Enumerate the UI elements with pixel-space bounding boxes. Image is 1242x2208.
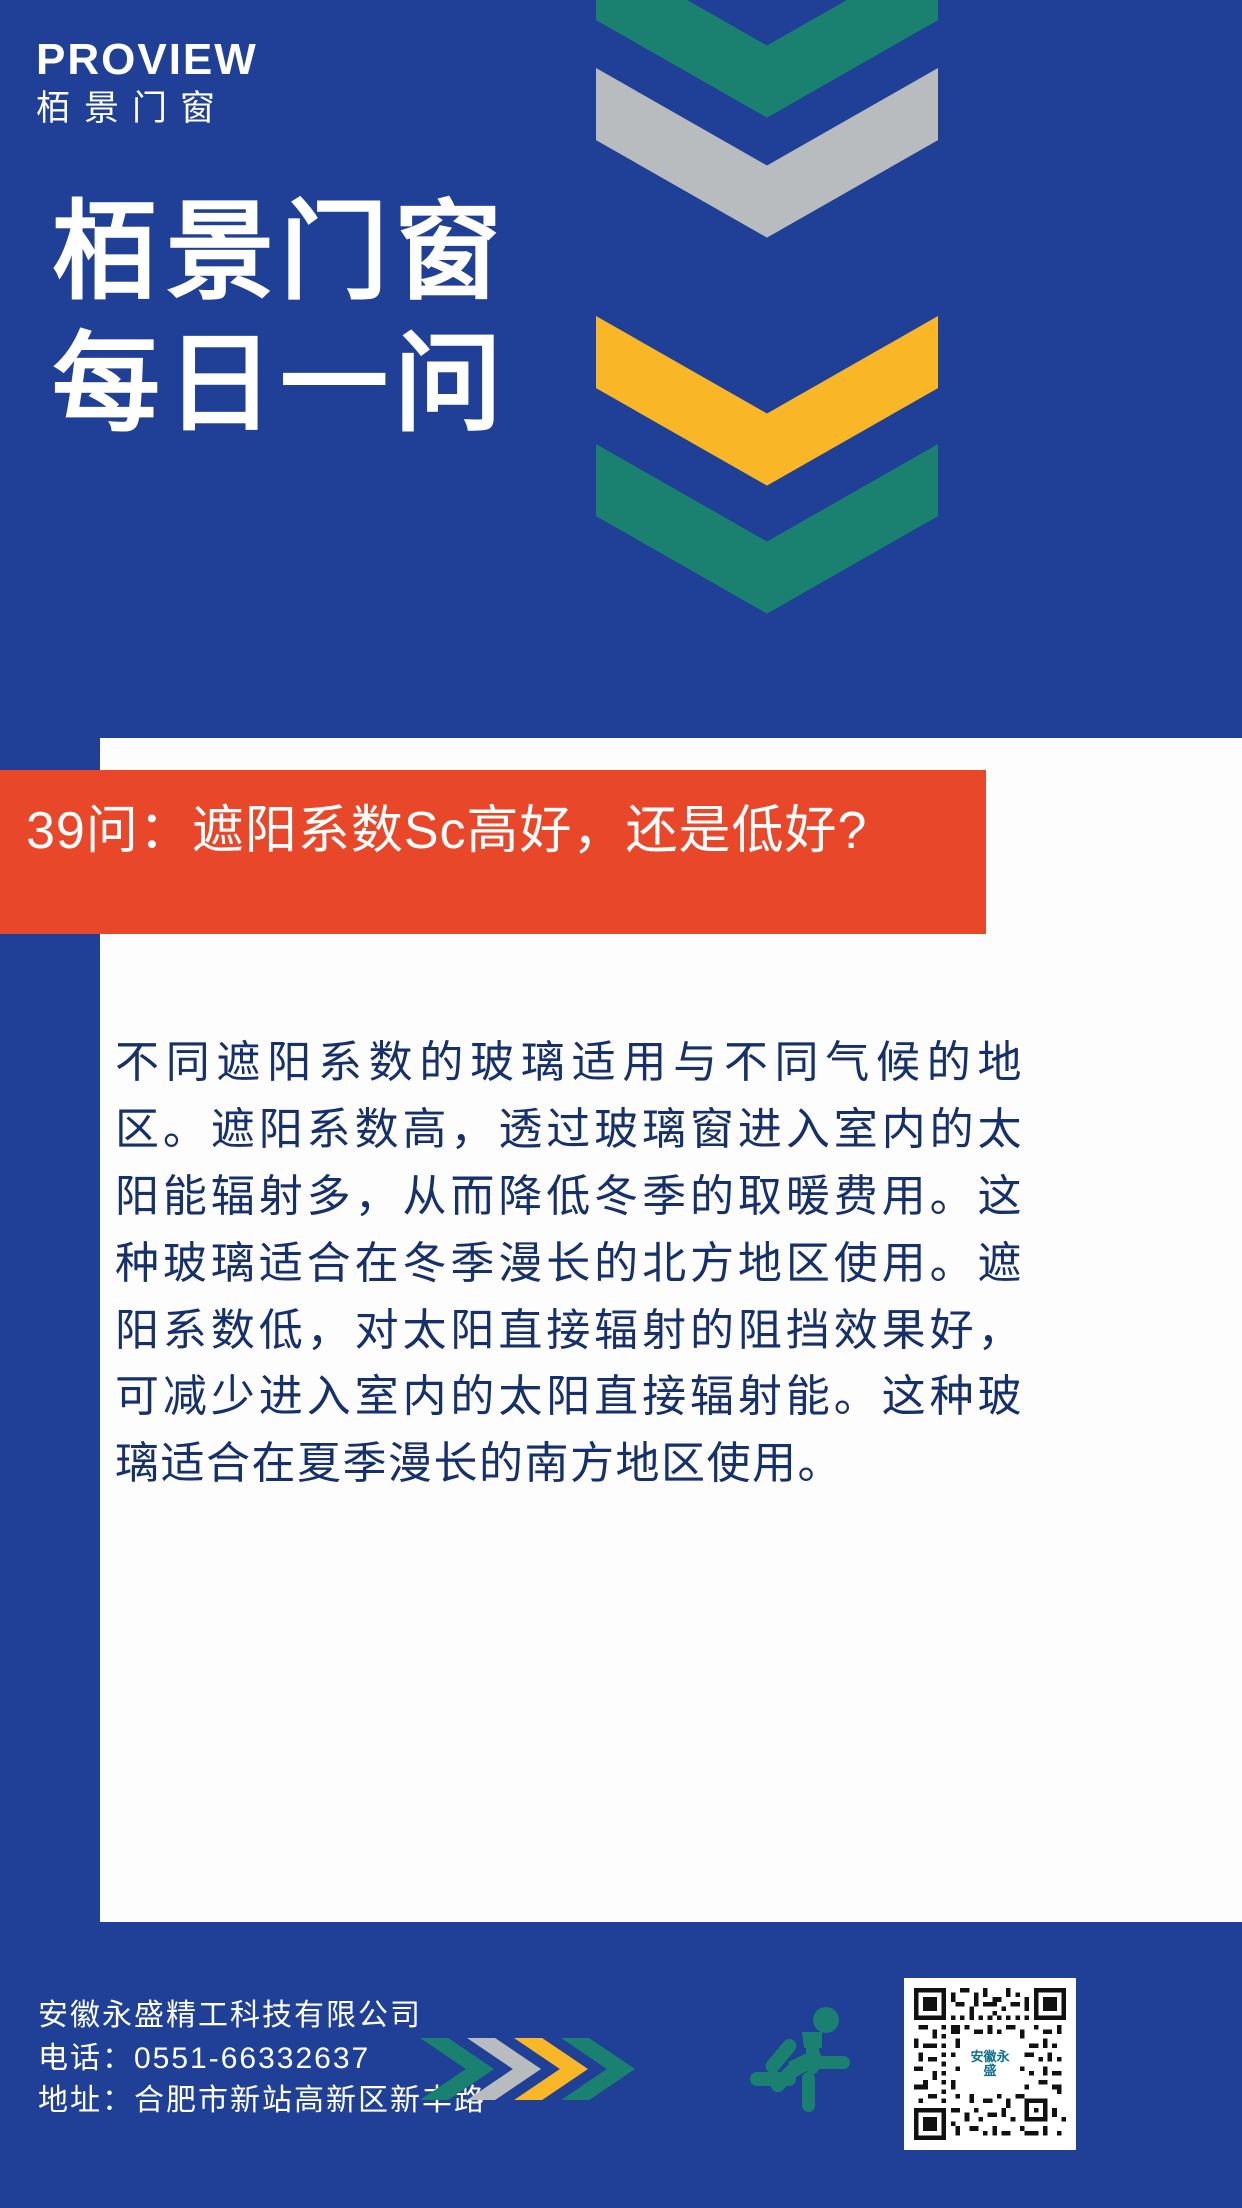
- brand-logo-en: PROVIEW: [36, 38, 258, 82]
- question-text: 39问：遮阳系数Sc高好，还是低好?: [26, 792, 970, 871]
- chevron-down-icon-teal-bottom: [596, 444, 938, 656]
- footer-chevron-group: [420, 2038, 650, 2100]
- footer-phone: 电话：0551-66332637: [38, 2038, 486, 2081]
- page-title: 栢景门窗 每日一问: [52, 186, 508, 450]
- answer-paragraph: 不同遮阳系数的玻璃适用与不同气候的地区。遮阳系数高，透过玻璃窗进入室内的太阳能辐…: [115, 1030, 1023, 1498]
- page-title-line2: 每日一问: [52, 318, 508, 450]
- footer-contact-info: 安徽永盛精工科技有限公司 电话：0551-66332637 地址：合肥市新站高新…: [38, 1995, 486, 2123]
- qr-code[interactable]: 安徽永盛: [904, 1978, 1076, 2150]
- footer-company-name: 安徽永盛精工科技有限公司: [38, 1995, 486, 2038]
- brand-logo-cn: 栢景门窗: [36, 90, 258, 129]
- question-banner: 39问：遮阳系数Sc高好，还是低好?: [0, 770, 986, 934]
- page-title-line1: 栢景门窗: [52, 186, 508, 318]
- chevron-right-icon-teal-2: [561, 2038, 635, 2100]
- footer-address: 地址：合肥市新站高新区新丰路: [38, 2080, 486, 2123]
- qr-center-logo-text: 安徽永盛: [967, 2050, 1013, 2077]
- poster-root: PROVIEW 栢景门窗 栢景门窗 每日一问 39问：遮阳系数Sc高好，还是低好…: [0, 0, 1242, 2208]
- runner-icon: [744, 1996, 872, 2124]
- brand-logo: PROVIEW 栢景门窗: [36, 38, 258, 129]
- qr-center-logo: 安徽永盛: [960, 2034, 1020, 2094]
- chevron-down-icon-gray: [596, 68, 938, 280]
- chevron-decoration-group: [596, 0, 938, 508]
